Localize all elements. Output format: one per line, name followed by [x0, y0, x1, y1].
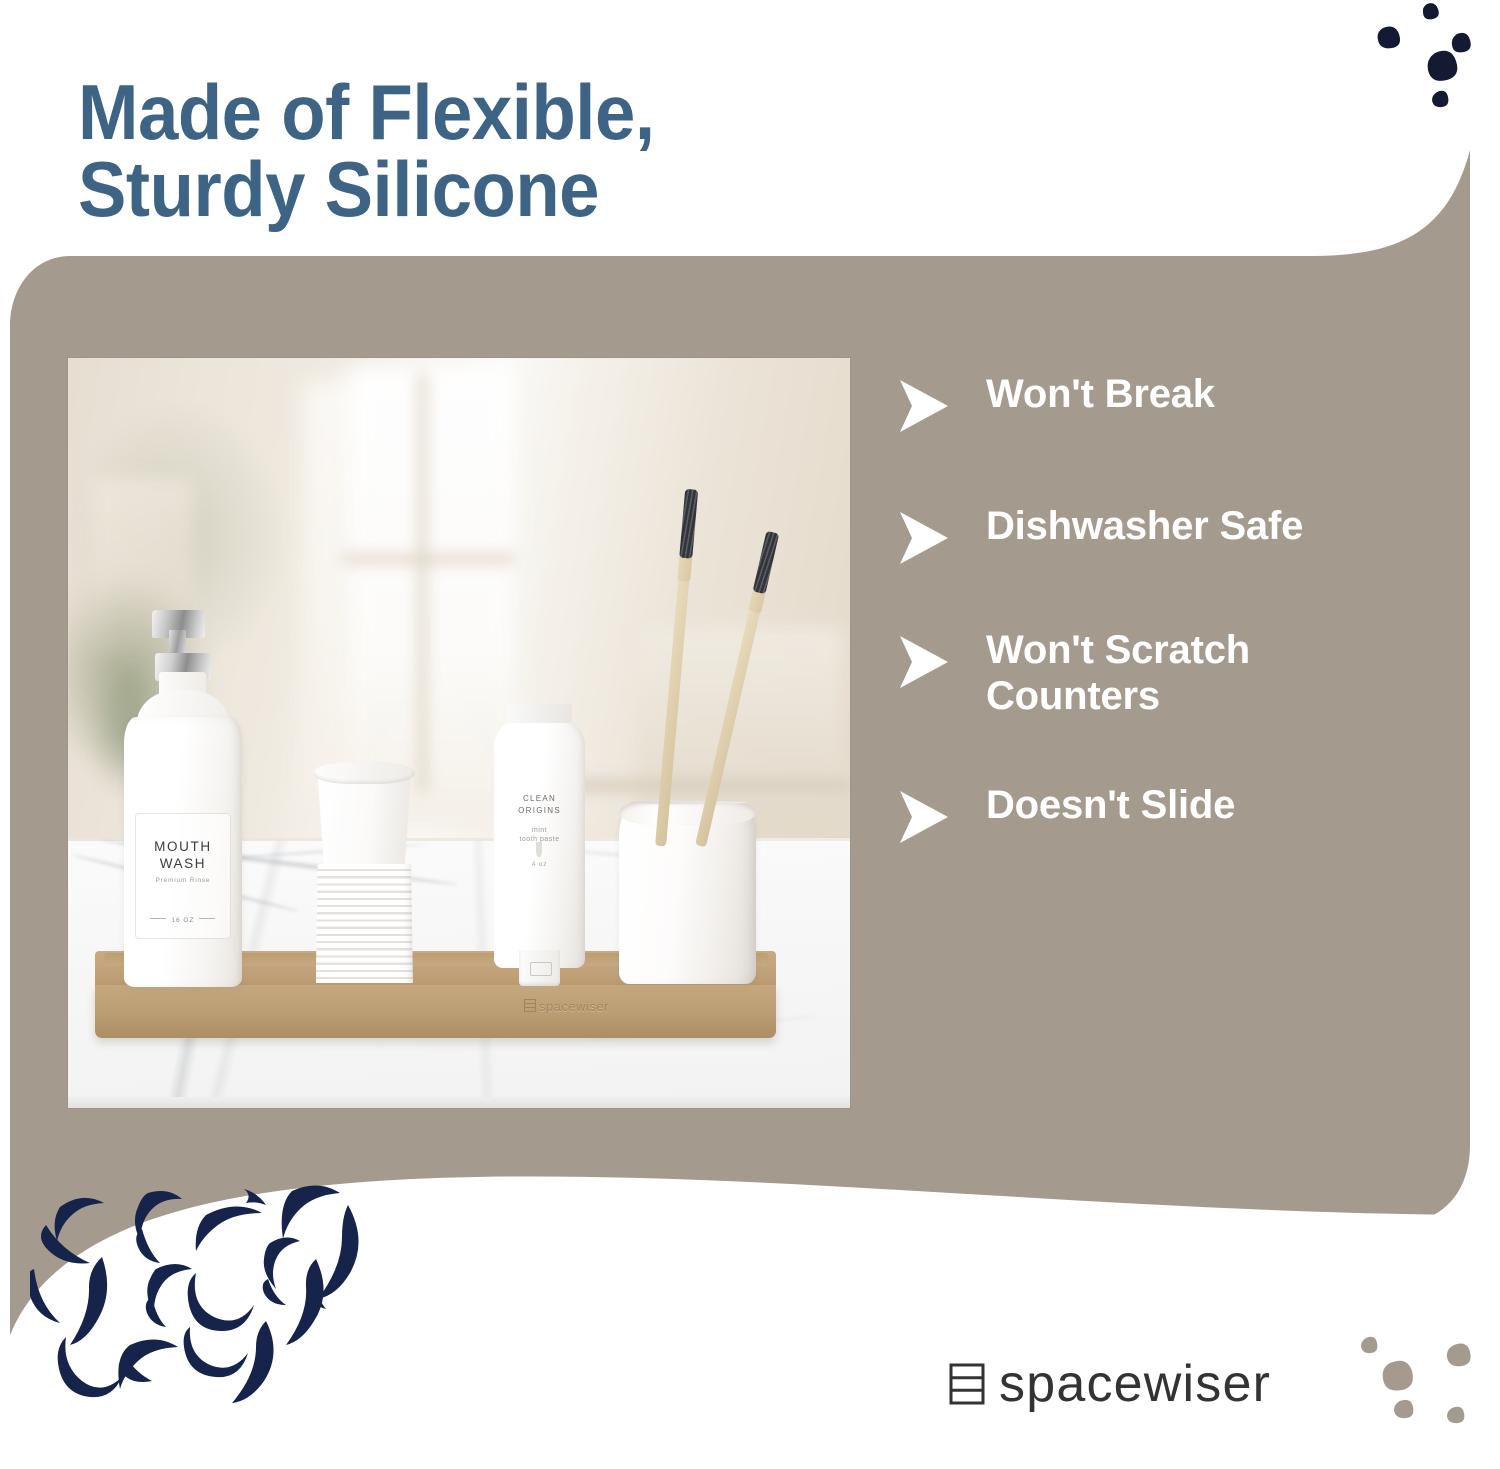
list-item: Dishwasher Safe — [898, 504, 1418, 564]
feature-label: Doesn't Slide — [986, 783, 1235, 829]
product-photo: spacewiser MOUTH WASH Premium — [68, 358, 850, 1108]
tray-logo-mark-icon — [524, 999, 536, 1012]
tube-label: CLEAN ORIGINS mint tooth paste 4 oz — [494, 793, 585, 868]
tray-embossed-logo: spacewiser — [524, 999, 609, 1014]
tube-brand-line-1: CLEAN — [494, 793, 585, 805]
navy-brushstroke-cluster — [30, 1185, 390, 1415]
bottle-label: MOUTH WASH Premium Rinse 16 OZ — [136, 814, 230, 938]
tube-crimp — [507, 704, 572, 724]
list-item: Won't Break — [898, 372, 1418, 432]
toothbrush-holder — [619, 792, 756, 983]
feature-list: Won't Break Dishwasher Safe Won't Scratc… — [898, 372, 1418, 843]
arrow-right-icon — [898, 512, 948, 564]
feature-label: Won't Break — [986, 372, 1215, 418]
tube-cap — [519, 950, 561, 987]
arrow-right-icon — [898, 791, 948, 843]
stacked-paper-cups — [307, 762, 423, 983]
brand-name: spacewiser — [999, 1358, 1271, 1410]
navy-dot-cluster-top-right — [1355, 0, 1500, 150]
window-rail — [342, 553, 514, 565]
list-item: Won't Scratch Counters — [898, 628, 1418, 719]
photo-scene: spacewiser MOUTH WASH Premium — [68, 358, 850, 1108]
headline-line-1: Made of Flexible, — [78, 74, 841, 151]
bottle-body: MOUTH WASH Premium Rinse 16 OZ — [124, 717, 241, 987]
label-dash — [150, 918, 166, 919]
headline-line-2: Sturdy Silicone — [78, 151, 841, 228]
bottle-label-subtitle: Premium Rinse — [136, 877, 230, 884]
bottle-label-title: MOUTH WASH — [136, 838, 230, 873]
holder-cup-rim — [619, 800, 756, 825]
window-mullion — [417, 373, 428, 793]
tube-brand: CLEAN ORIGINS — [494, 793, 585, 816]
label-dash — [199, 918, 215, 919]
counter-edge — [68, 1097, 850, 1108]
arrow-right-icon — [898, 380, 948, 432]
bottle-size-text: 16 OZ — [171, 917, 194, 924]
tube-glyph-icon — [536, 842, 542, 857]
tray-logo-text: spacewiser — [539, 999, 609, 1014]
shelf-ladder-icon — [948, 1362, 986, 1406]
bottle-label-size: 16 OZ — [136, 917, 230, 924]
bottle-label-line-2: WASH — [136, 855, 230, 872]
top-cup-base — [313, 762, 415, 784]
toothpaste-tube: CLEAN ORIGINS mint tooth paste 4 oz — [494, 704, 585, 985]
feature-label: Dishwasher Safe — [986, 504, 1303, 550]
mouthwash-bottle: MOUTH WASH Premium Rinse 16 OZ — [124, 612, 241, 987]
top-cup-body — [317, 773, 411, 879]
tube-size: 4 oz — [494, 861, 585, 868]
infographic-canvas: Made of Flexible, Sturdy Silicone — [0, 0, 1500, 1469]
page-title: Made of Flexible, Sturdy Silicone — [78, 74, 841, 228]
feature-label: Won't Scratch Counters — [986, 628, 1406, 719]
arrow-right-icon — [898, 636, 948, 688]
tan-dot-cluster-bottom-right — [1335, 1325, 1500, 1469]
tube-brand-line-2: ORIGINS — [494, 805, 585, 817]
holder-cup-interior — [629, 801, 747, 803]
holder-cup-body — [619, 808, 756, 984]
tray-front-face — [95, 985, 775, 1038]
window-blur — [350, 366, 514, 831]
brand-logo: spacewiser — [948, 1358, 1271, 1410]
list-item: Doesn't Slide — [898, 783, 1418, 843]
tube-body: CLEAN ORIGINS mint tooth paste 4 oz — [494, 715, 585, 968]
cup-stack-ridges — [316, 864, 413, 983]
tube-desc-line-1: mint — [494, 826, 585, 836]
bottle-label-line-1: MOUTH — [136, 838, 230, 855]
